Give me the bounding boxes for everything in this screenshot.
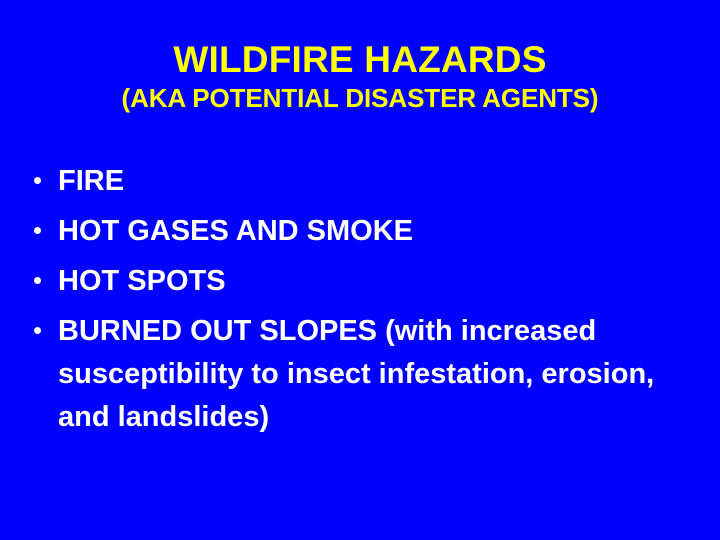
bullet-point-icon [34, 177, 41, 184]
slide-title: WILDFIRE HAZARDS (AKA POTENTIAL DISASTER… [0, 38, 720, 114]
bullet-item-label: HOT GASES AND SMOKE [58, 210, 692, 253]
bullet-item-burned-out-slopes: BURNED OUT SLOPES (with increased suscep… [24, 310, 692, 439]
bullet-item-hot-spots: HOT SPOTS [24, 260, 692, 303]
slide-title-line-1: WILDFIRE HAZARDS [0, 38, 720, 82]
presentation-slide: WILDFIRE HAZARDS (AKA POTENTIAL DISASTER… [0, 0, 720, 540]
bullet-point-icon [34, 327, 41, 334]
bullet-item-label: HOT SPOTS [58, 260, 692, 303]
bullet-item-label: BURNED OUT SLOPES (with increased suscep… [58, 310, 692, 439]
slide-title-line-2: (AKA POTENTIAL DISASTER AGENTS) [0, 82, 720, 114]
bullet-item-hot-gases-and-smoke: HOT GASES AND SMOKE [24, 210, 692, 253]
slide-bullet-list: FIRE HOT GASES AND SMOKE HOT SPOTS BURNE… [24, 160, 692, 439]
bullet-item-fire: FIRE [24, 160, 692, 203]
bullet-point-icon [34, 277, 41, 284]
bullet-item-label: FIRE [58, 160, 692, 203]
bullet-point-icon [34, 227, 41, 234]
